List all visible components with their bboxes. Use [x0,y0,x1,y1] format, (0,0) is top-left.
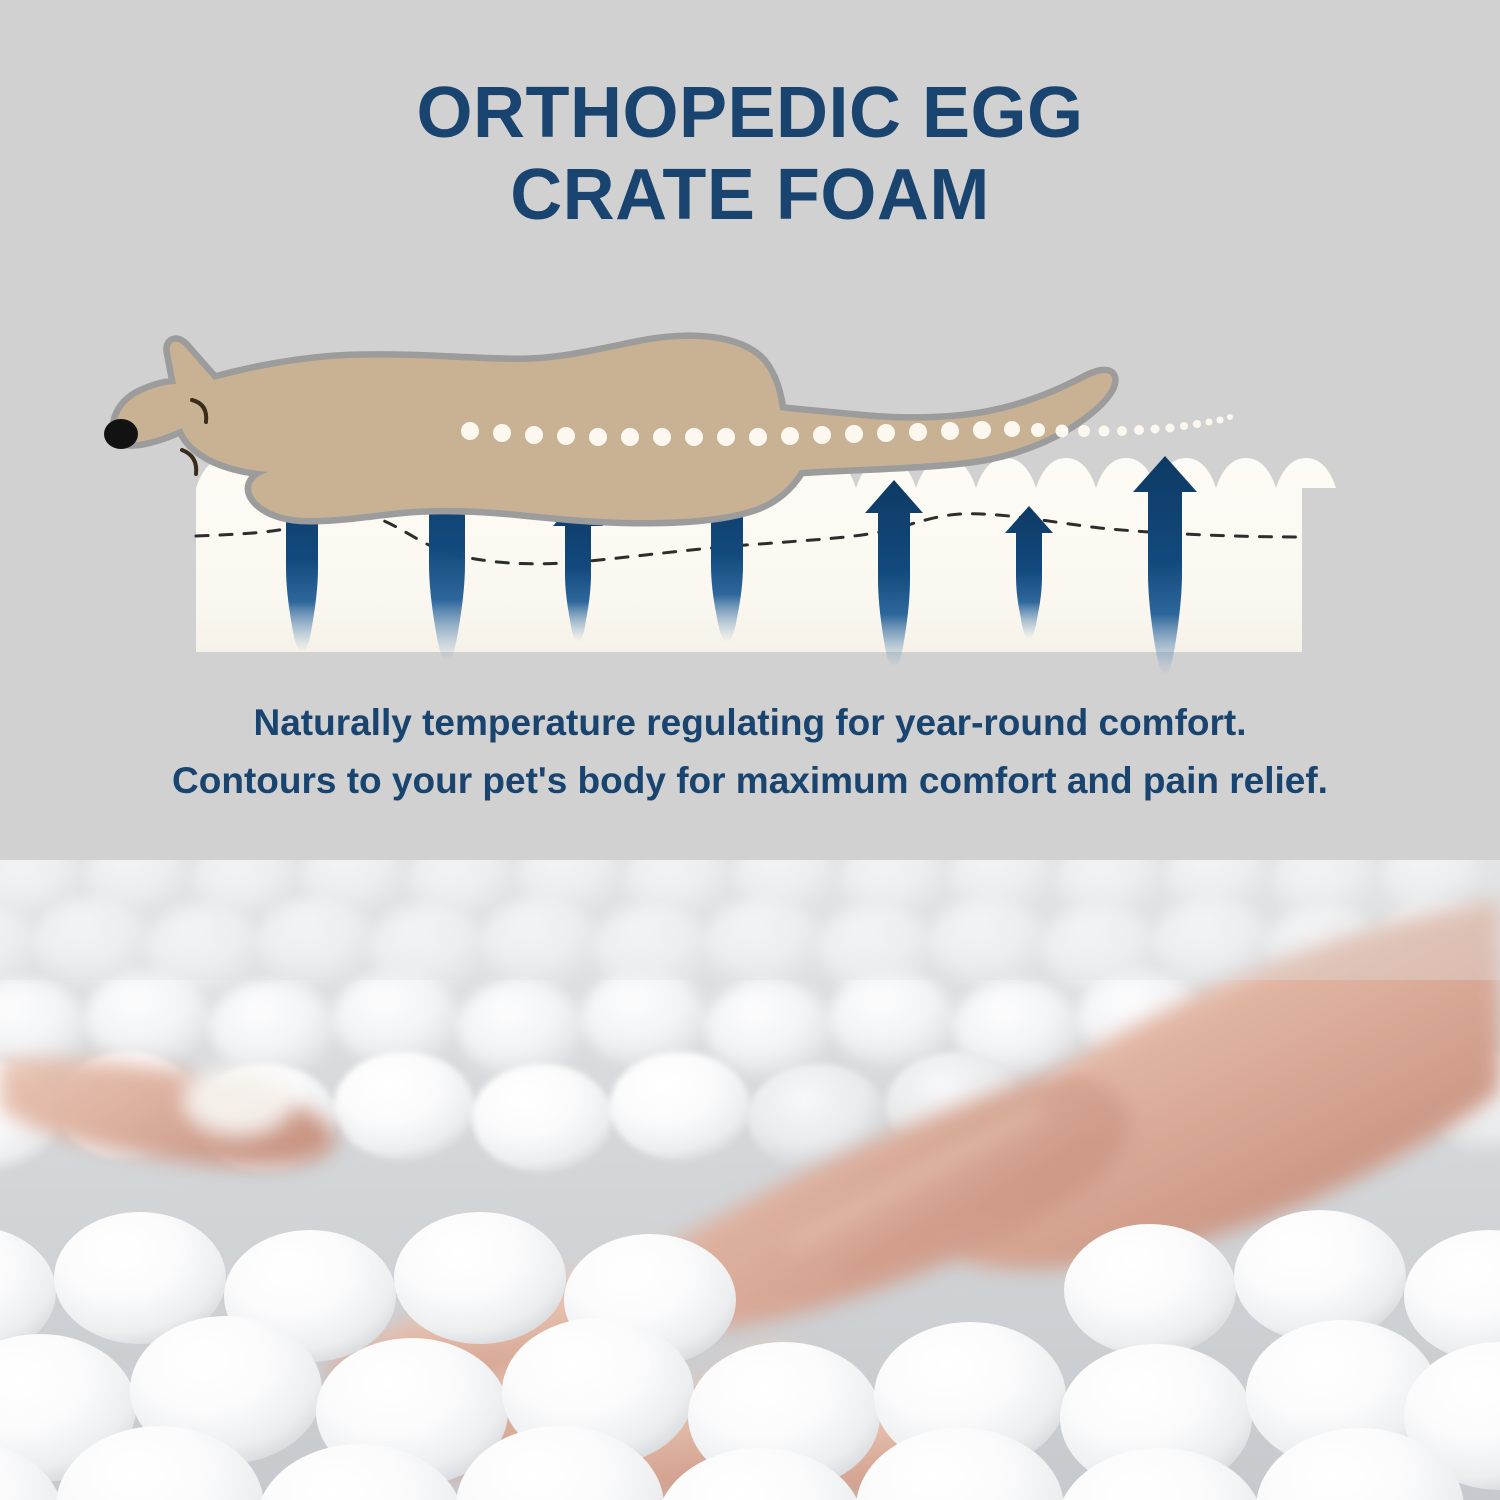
foam-photo-render [0,860,1500,1500]
product-infographic: ORTHOPEDIC EGG CRATE FOAM [0,0,1500,1500]
feature-description: Naturally temperature regulating for yea… [0,694,1500,810]
foam-photo [0,860,1500,1500]
foam-support-illustration [0,300,1500,700]
page-title: ORTHOPEDIC EGG CRATE FOAM [0,72,1500,236]
illustration-panel: ORTHOPEDIC EGG CRATE FOAM [0,0,1500,860]
dog-nose-icon [104,419,138,449]
